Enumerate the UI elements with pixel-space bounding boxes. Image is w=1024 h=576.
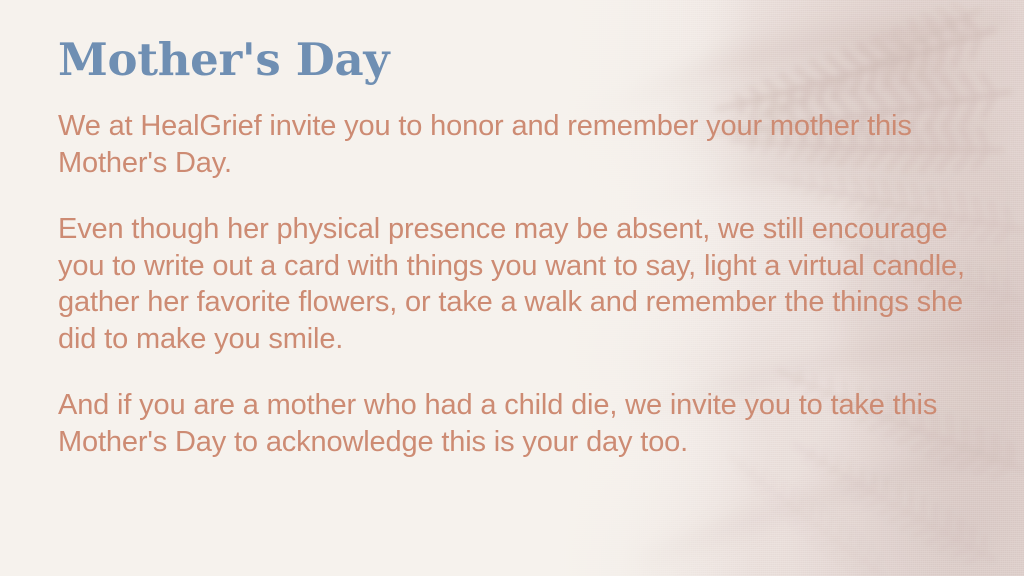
slide-canvas: Mother's Day We at HealGrief invite you …	[0, 0, 1024, 576]
slide-content: Mother's Day We at HealGrief invite you …	[0, 0, 1024, 576]
paragraph-1: We at HealGrief invite you to honor and …	[58, 108, 988, 181]
paragraph-2: Even though her physical presence may be…	[58, 211, 988, 357]
paragraph-3: And if you are a mother who had a child …	[58, 387, 988, 460]
body-copy: We at HealGrief invite you to honor and …	[58, 108, 988, 460]
page-title: Mother's Day	[58, 36, 389, 84]
